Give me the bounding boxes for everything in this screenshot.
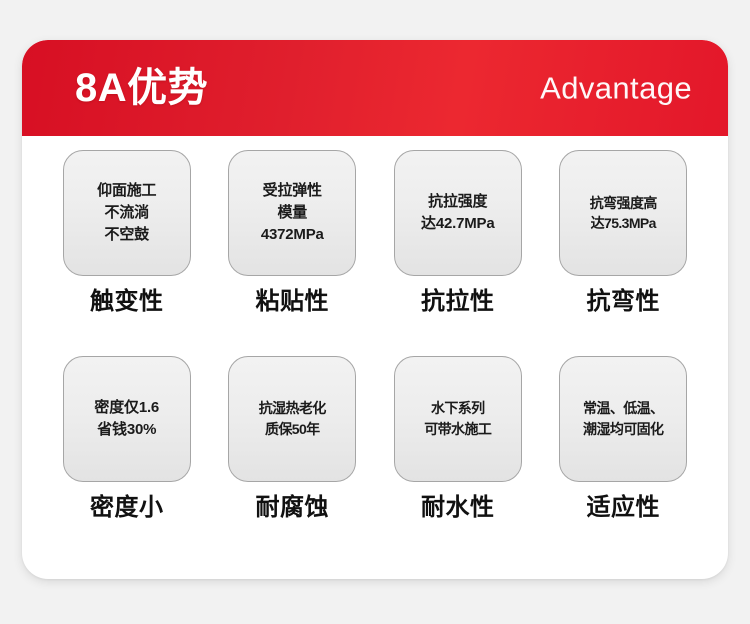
header-banner: 8A优势 Advantage bbox=[22, 40, 728, 136]
advantage-detail-box: 密度仅1.6 省钱30% bbox=[63, 356, 191, 482]
advantage-detail-text: 常温、低温、 潮湿均可固化 bbox=[583, 398, 663, 439]
advantage-label: 适应性 bbox=[587, 496, 661, 520]
advantage-label: 抗弯性 bbox=[587, 290, 661, 314]
advantage-item-1: 仰面施工 不流淌 不空鼓 触变性 bbox=[44, 150, 210, 356]
advantage-label: 耐腐蚀 bbox=[256, 496, 330, 520]
advantage-item-4: 抗弯强度高 达75.3MPa 抗弯性 bbox=[541, 150, 707, 356]
advantage-label: 抗拉性 bbox=[421, 290, 495, 314]
page-title: 8A优势 bbox=[75, 68, 208, 108]
advantage-item-5: 密度仅1.6 省钱30% 密度小 bbox=[44, 356, 210, 562]
advantage-item-7: 水下系列 可带水施工 耐水性 bbox=[375, 356, 541, 562]
advantage-item-2: 受拉弹性 模量 4372MPa 粘贴性 bbox=[210, 150, 376, 356]
advantage-detail-box: 仰面施工 不流淌 不空鼓 bbox=[63, 150, 191, 276]
advantage-detail-text: 受拉弹性 模量 4372MPa bbox=[261, 180, 324, 245]
advantage-detail-text: 密度仅1.6 省钱30% bbox=[94, 397, 159, 441]
advantage-detail-box: 抗湿热老化 质保50年 bbox=[228, 356, 356, 482]
advantage-detail-text: 抗弯强度高 达75.3MPa bbox=[590, 193, 657, 234]
advantage-item-8: 常温、低温、 潮湿均可固化 适应性 bbox=[541, 356, 707, 562]
advantage-detail-text: 抗拉强度 达42.7MPa bbox=[421, 191, 494, 235]
advantage-item-3: 抗拉强度 达42.7MPa 抗拉性 bbox=[375, 150, 541, 356]
advantage-detail-box: 受拉弹性 模量 4372MPa bbox=[228, 150, 356, 276]
advantage-label: 触变性 bbox=[90, 290, 164, 314]
advantage-detail-box: 抗弯强度高 达75.3MPa bbox=[559, 150, 687, 276]
advantage-detail-box: 抗拉强度 达42.7MPa bbox=[394, 150, 522, 276]
advantage-label: 粘贴性 bbox=[256, 290, 330, 314]
advantage-detail-box: 水下系列 可带水施工 bbox=[394, 356, 522, 482]
advantage-label: 密度小 bbox=[90, 496, 164, 520]
advantage-detail-text: 水下系列 可带水施工 bbox=[424, 398, 491, 439]
advantage-panel: 8A优势 Advantage 仰面施工 不流淌 不空鼓 触变性 受拉弹性 模量 … bbox=[22, 40, 728, 579]
page-subtitle: Advantage bbox=[540, 73, 692, 104]
advantage-grid: 仰面施工 不流淌 不空鼓 触变性 受拉弹性 模量 4372MPa 粘贴性 抗拉强… bbox=[22, 136, 728, 579]
advantage-page: 8A优势 Advantage 仰面施工 不流淌 不空鼓 触变性 受拉弹性 模量 … bbox=[0, 0, 750, 624]
advantage-item-6: 抗湿热老化 质保50年 耐腐蚀 bbox=[210, 356, 376, 562]
advantage-detail-text: 仰面施工 不流淌 不空鼓 bbox=[97, 180, 156, 245]
advantage-detail-box: 常温、低温、 潮湿均可固化 bbox=[559, 356, 687, 482]
advantage-label: 耐水性 bbox=[421, 496, 495, 520]
advantage-detail-text: 抗湿热老化 质保50年 bbox=[259, 398, 326, 439]
